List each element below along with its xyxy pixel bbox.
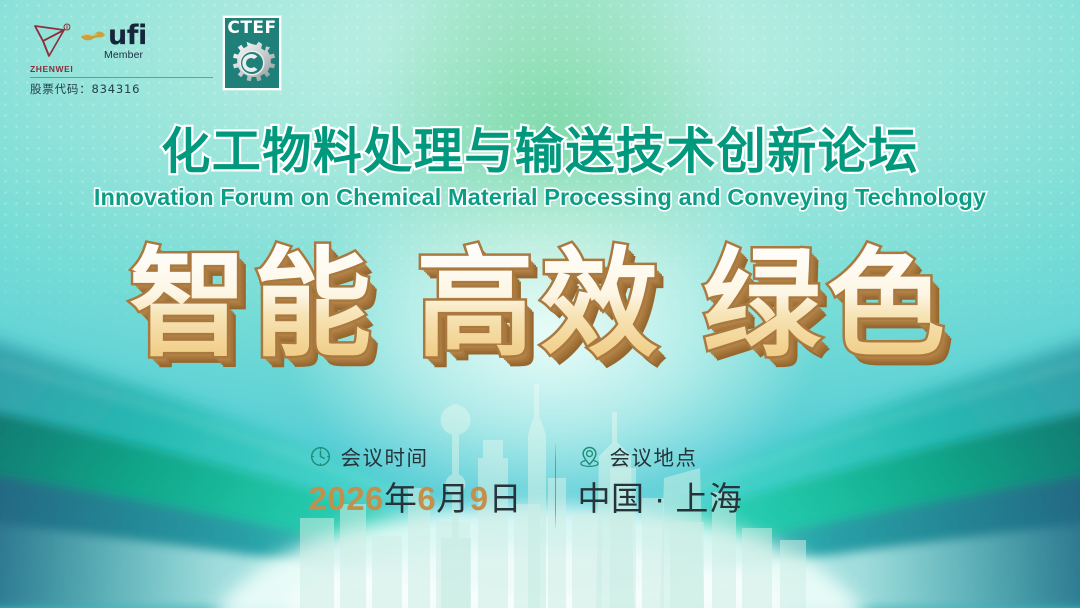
stock-code-text: 股票代码：834316 [30, 81, 213, 97]
svg-text:R: R [66, 25, 69, 30]
event-year: 2026 [309, 480, 384, 517]
event-time-label: 会议时间 [341, 441, 429, 471]
event-location-value: 中国 · 上海 [578, 481, 743, 518]
event-month-unit: 月 [436, 480, 470, 517]
event-time-header: 会议时间 [309, 440, 429, 472]
ufi-wordmark: ufi [108, 24, 147, 48]
ctef-logo: CTEF [223, 16, 281, 90]
event-time-block: 会议时间 2026年6月9日 [303, 440, 555, 518]
ufi-swoosh-icon [80, 29, 106, 42]
zhenwei-name-row: ZHENWEI [30, 63, 213, 74]
slogan-artwork: 智能 高效 绿色 智能 高效 绿色 智能 高效 绿色 智能 高效 绿色 智能 高… [160, 233, 920, 383]
clock-icon [309, 445, 332, 468]
gear-icon [227, 39, 277, 87]
event-day: 9 [470, 480, 489, 517]
location-pin-icon [578, 445, 601, 468]
zhenwei-wordmark: ZHENWEI [30, 64, 73, 74]
forum-banner: R ufi Member ZHENWEI [0, 0, 1080, 608]
event-location-label: 会议地点 [610, 441, 698, 471]
slogan-text: 智能 高效 绿色 [129, 239, 951, 371]
logo-bar: R ufi Member ZHENWEI [30, 16, 281, 97]
event-info-row: 会议时间 2026年6月9日 会议地点 中国 · 上海 [0, 440, 1080, 528]
ctef-wordmark: CTEF [227, 20, 276, 38]
event-location-header: 会议地点 [578, 440, 698, 472]
forum-title-english: Innovation Forum on Chemical Material Pr… [0, 184, 1080, 211]
ufi-member-label: Member [104, 49, 143, 61]
event-time-value: 2026年6月9日 [309, 481, 523, 518]
event-month: 6 [417, 480, 436, 517]
slogan-block: 智能 高效 绿色 智能 高效 绿色 智能 高效 绿色 智能 高效 绿色 智能 高… [0, 238, 1080, 378]
forum-title-chinese: 化工物料处理与输送技术创新论坛 [0, 112, 1080, 183]
ufi-member-logo: ufi Member [80, 24, 147, 62]
event-location-block: 会议地点 中国 · 上海 [556, 440, 778, 518]
event-day-unit: 日 [489, 480, 523, 517]
zhenwei-ufi-logo-group: R ufi Member ZHENWEI [30, 16, 213, 97]
logo-divider-rule [30, 77, 213, 78]
event-year-unit: 年 [384, 480, 418, 517]
zhenwei-arrow-logo-icon: R [30, 20, 74, 62]
